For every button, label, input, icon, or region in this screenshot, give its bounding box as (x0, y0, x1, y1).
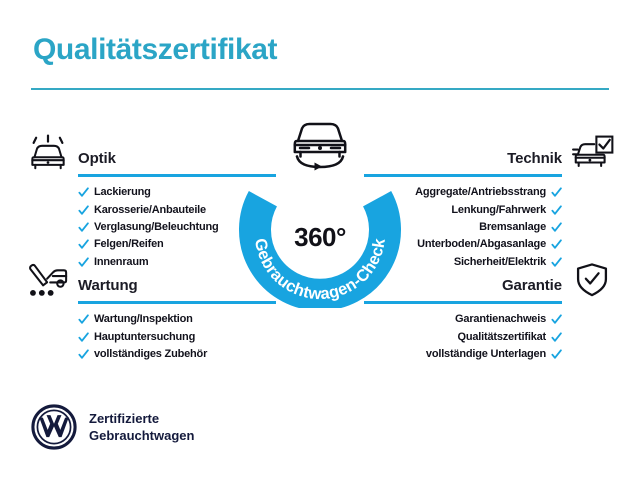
list-item-label: Qualitätszertifikat (457, 332, 546, 343)
vw-roundel-icon (31, 404, 77, 450)
section-garantie-header: Garantie (378, 258, 618, 304)
check-icon (78, 314, 89, 325)
list-item: vollständiges Zubehör (22, 346, 262, 363)
section-technik-title: Technik (507, 150, 562, 167)
shield-check-icon (566, 258, 618, 302)
list-item-label: Karosserie/Anbauteile (94, 205, 206, 216)
header-divider (31, 88, 609, 90)
check-icon (78, 239, 89, 250)
list-item-label: Felgen/Reifen (94, 239, 164, 250)
section-wartung: Wartung Wartung/Inspektion Hauptuntersuc… (22, 258, 262, 363)
certificate-page: Qualitätszertifikat (0, 0, 640, 480)
list-item-label: Unterboden/Abgasanlage (417, 239, 546, 250)
check-icon (551, 187, 562, 198)
check-icon (551, 314, 562, 325)
section-garantie-title: Garantie (502, 277, 562, 294)
badge-360-gebrauchtwagen-check: Gebrauchtwagen-Check 360° (237, 118, 403, 308)
vw-text-line-2: Gebrauchtwagen (89, 427, 194, 444)
list-item-label: Bremsanlage (479, 222, 546, 233)
list-item-label: vollständiges Zubehör (94, 349, 207, 360)
check-icon (551, 349, 562, 360)
list-item-label: Wartung/Inspektion (94, 314, 193, 325)
check-icon (551, 222, 562, 233)
list-item: Hauptuntersuchung (22, 328, 262, 345)
check-icon (551, 205, 562, 216)
check-icon (78, 205, 89, 216)
list-item: Unterboden/Abgasanlage (378, 236, 618, 253)
section-optik: Optik Lackierung Karosserie/Anbauteile (22, 131, 262, 271)
list-item: Bremsanlage (378, 219, 618, 236)
car-checkbox-icon (566, 131, 618, 175)
check-icon (78, 187, 89, 198)
list-item: Garantienachweis (378, 311, 618, 328)
list-item-label: Aggregate/Antriebsstrang (415, 187, 546, 198)
wrench-car-icon (22, 258, 74, 302)
vw-text-line-1: Zertifizierte (89, 410, 194, 427)
list-item-label: Hauptuntersuchung (94, 332, 195, 343)
list-item: Aggregate/Antriebsstrang (378, 184, 618, 201)
check-icon (78, 222, 89, 233)
check-icon (551, 239, 562, 250)
list-item-label: Lenkung/Fahrwerk (451, 205, 546, 216)
list-item-label: Garantienachweis (455, 314, 546, 325)
list-item: Felgen/Reifen (22, 236, 262, 253)
section-wartung-title: Wartung (78, 277, 138, 294)
list-item: vollständige Unterlagen (378, 346, 618, 363)
list-item: Qualitätszertifikat (378, 328, 618, 345)
section-technik-header: Technik (378, 131, 618, 177)
list-item-label: vollständige Unterlagen (426, 349, 546, 360)
list-item: Karosserie/Anbauteile (22, 201, 262, 218)
check-icon (78, 332, 89, 343)
section-wartung-list: Wartung/Inspektion Hauptuntersuchung vol… (22, 311, 262, 363)
list-item: Wartung/Inspektion (22, 311, 262, 328)
check-icon (78, 349, 89, 360)
car-rotate-icon (284, 118, 356, 174)
check-icon (551, 332, 562, 343)
section-wartung-header: Wartung (22, 258, 262, 304)
list-item-label: Lackierung (94, 187, 151, 198)
section-garantie-list: Garantienachweis Qualitätszertifikat vol… (378, 311, 618, 363)
section-optik-header: Optik (22, 131, 262, 177)
list-item: Verglasung/Beleuchtung (22, 219, 262, 236)
section-technik: Technik Aggregate/Antriebsstrang Lenkung… (378, 131, 618, 271)
section-optik-title: Optik (78, 150, 116, 167)
volkswagen-logo: Zertifizierte Gebrauchtwagen (31, 404, 194, 450)
vw-wordmark-text: Zertifizierte Gebrauchtwagen (89, 410, 194, 444)
section-garantie: Garantie Garantienachweis Qualitätszerti… (378, 258, 618, 363)
sparkling-car-icon (22, 131, 74, 175)
list-item: Lenkung/Fahrwerk (378, 201, 618, 218)
list-item: Lackierung (22, 184, 262, 201)
page-title: Qualitätszertifikat (33, 33, 277, 67)
list-item-label: Verglasung/Beleuchtung (94, 222, 219, 233)
badge-degrees-label: 360° (237, 222, 403, 253)
